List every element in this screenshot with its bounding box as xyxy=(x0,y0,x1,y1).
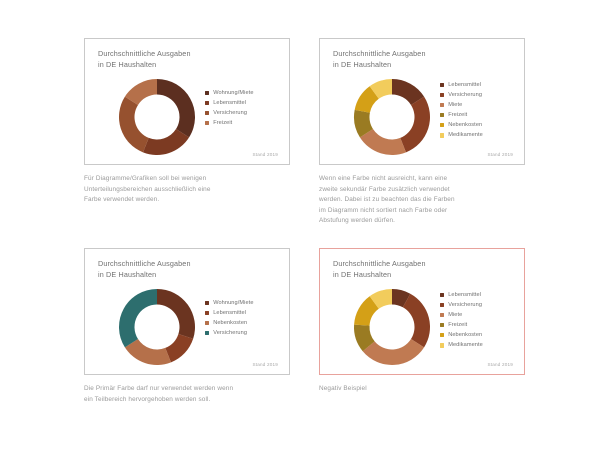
legend-item: Freizeit xyxy=(440,321,483,329)
caption-bottom-left: Die Primär Farbe darf nur verwendet werd… xyxy=(84,384,299,405)
legend-item: Versicherung xyxy=(440,91,483,99)
chart-card-primary-highlight: Durchschnittliche Ausgaben in DE Haushal… xyxy=(84,248,290,375)
legend-item-label: Lebensmittel xyxy=(213,310,246,316)
legend-item-label: Freizeit xyxy=(448,322,467,328)
legend-item-label: Versicherung xyxy=(213,330,247,336)
legend-item: Nebenkosten xyxy=(440,331,483,339)
legend-swatch-icon xyxy=(205,311,209,315)
chart-source-note: Stand 2019 xyxy=(487,362,513,367)
donut-chart-container xyxy=(352,77,432,157)
legend-item: Versicherung xyxy=(205,109,254,117)
donut-segment xyxy=(403,294,430,348)
legend-swatch-icon xyxy=(440,323,444,327)
legend-swatch-icon xyxy=(440,123,444,127)
legend-swatch-icon xyxy=(440,333,444,337)
chart-source-note: Stand 2019 xyxy=(487,152,513,157)
legend-item: Medikamente xyxy=(440,341,483,349)
chart-legend: LebensmittelVersicherungMieteFreizeitNeb… xyxy=(440,291,483,349)
legend-item-label: Freizeit xyxy=(213,120,232,126)
legend-swatch-icon xyxy=(205,101,209,105)
legend-swatch-icon xyxy=(205,91,209,95)
legend-item: Wohnung/Miete xyxy=(205,299,254,307)
legend-item: Nebenkosten xyxy=(205,319,254,327)
card-title: Durchschnittliche Ausgaben in DE Haushal… xyxy=(333,49,426,70)
legend-item-label: Nebenkosten xyxy=(213,320,247,326)
legend-item-label: Wohnung/Miete xyxy=(213,300,253,306)
legend-swatch-icon xyxy=(440,83,444,87)
chart-legend: Wohnung/MieteLebensmittelNebenkostenVers… xyxy=(205,299,254,337)
legend-swatch-icon xyxy=(440,103,444,107)
legend-item-label: Miete xyxy=(448,102,462,108)
donut-segment xyxy=(157,289,195,339)
legend-swatch-icon xyxy=(205,301,209,305)
chart-source-note: Stand 2019 xyxy=(252,362,278,367)
chart-source-note: Stand 2019 xyxy=(252,152,278,157)
donut-segment xyxy=(400,97,430,153)
chart-card-negative-example: Durchschnittliche Ausgaben in DE Haushal… xyxy=(319,248,525,375)
legend-item-label: Lebensmittel xyxy=(448,82,481,88)
donut-chart-container xyxy=(117,287,197,367)
legend-swatch-icon xyxy=(205,321,209,325)
legend-item: Lebensmittel xyxy=(205,309,254,317)
chart-legend: Wohnung/MieteLebensmittelVersicherungFre… xyxy=(205,89,254,127)
legend-item: Miete xyxy=(440,101,483,109)
donut-segment xyxy=(157,79,195,137)
donut-chart-container xyxy=(117,77,197,157)
card-title: Durchschnittliche Ausgaben in DE Haushal… xyxy=(98,49,191,70)
legend-swatch-icon xyxy=(205,121,209,125)
donut-chart xyxy=(117,77,197,157)
legend-item: Nebenkosten xyxy=(440,121,483,129)
donut-segment xyxy=(119,97,149,153)
chart-card-single-color: Durchschnittliche Ausgaben in DE Haushal… xyxy=(84,38,290,165)
legend-item: Versicherung xyxy=(440,301,483,309)
legend-item: Versicherung xyxy=(205,329,254,337)
legend-item-label: Miete xyxy=(448,312,462,318)
legend-item: Lebensmittel xyxy=(440,291,483,299)
legend-item-label: Versicherung xyxy=(213,110,247,116)
card-title: Durchschnittliche Ausgaben in DE Haushal… xyxy=(333,259,426,280)
style-guide-sheet: Durchschnittliche Ausgaben in DE Haushal… xyxy=(0,0,600,450)
legend-item-label: Lebensmittel xyxy=(213,100,246,106)
legend-item-label: Medikamente xyxy=(448,132,483,138)
legend-swatch-icon xyxy=(440,293,444,297)
caption-top-right: Wenn eine Farbe nicht ausreicht, kann ei… xyxy=(319,174,534,227)
legend-item-label: Medikamente xyxy=(448,342,483,348)
chart-card-secondary-color: Durchschnittliche Ausgaben in DE Haushal… xyxy=(319,38,525,165)
legend-item: Freizeit xyxy=(440,111,483,119)
donut-chart-container xyxy=(352,287,432,367)
legend-item: Medikamente xyxy=(440,131,483,139)
donut-segment xyxy=(165,334,193,362)
card-title: Durchschnittliche Ausgaben in DE Haushal… xyxy=(98,259,191,280)
legend-swatch-icon xyxy=(440,93,444,97)
legend-item-label: Wohnung/Miete xyxy=(213,90,253,96)
legend-item: Wohnung/Miete xyxy=(205,89,254,97)
chart-legend: LebensmittelVersicherungMieteFreizeitNeb… xyxy=(440,81,483,139)
legend-item-label: Nebenkosten xyxy=(448,122,482,128)
legend-item-label: Nebenkosten xyxy=(448,332,482,338)
caption-bottom-right: Negativ Beispiel xyxy=(319,384,534,395)
donut-chart xyxy=(352,287,432,367)
caption-top-left: Für Diagramme/Grafiken soll bei wenigen … xyxy=(84,174,299,206)
legend-swatch-icon xyxy=(205,111,209,115)
legend-item-label: Versicherung xyxy=(448,302,482,308)
legend-swatch-icon xyxy=(440,313,444,317)
donut-chart xyxy=(117,287,197,367)
legend-swatch-icon xyxy=(440,303,444,307)
donut-segment xyxy=(119,289,157,347)
legend-item: Lebensmittel xyxy=(440,81,483,89)
legend-item-label: Lebensmittel xyxy=(448,292,481,298)
legend-item: Freizeit xyxy=(205,119,254,127)
legend-item: Lebensmittel xyxy=(205,99,254,107)
legend-swatch-icon xyxy=(440,343,444,347)
legend-item-label: Freizeit xyxy=(448,112,467,118)
legend-swatch-icon xyxy=(205,331,209,335)
donut-chart xyxy=(352,77,432,157)
legend-item-label: Versicherung xyxy=(448,92,482,98)
legend-swatch-icon xyxy=(440,113,444,117)
legend-swatch-icon xyxy=(440,133,444,137)
legend-item: Miete xyxy=(440,311,483,319)
